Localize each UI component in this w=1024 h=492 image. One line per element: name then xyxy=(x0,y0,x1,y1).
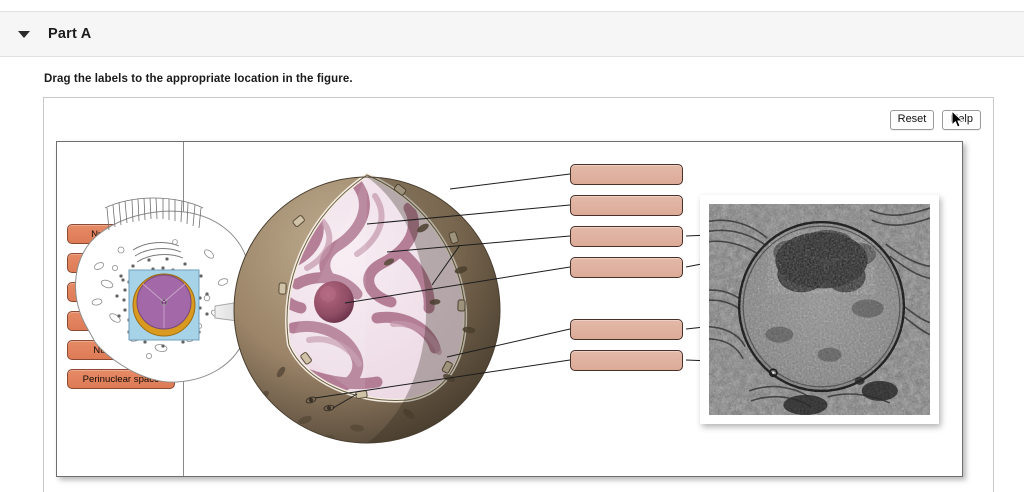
drop-target-5[interactable] xyxy=(570,319,683,340)
part-header: Part A xyxy=(0,11,1024,57)
drop-target-6[interactable] xyxy=(570,350,683,371)
toolbar: Reset Help xyxy=(890,110,981,130)
drop-target-1[interactable] xyxy=(570,164,683,185)
page-title: Part A xyxy=(48,26,91,42)
figure-drop-area[interactable]: Nuclear pores Chromatin Nuclear envelope… xyxy=(56,141,963,477)
triangle-down-icon[interactable] xyxy=(18,31,30,38)
nucleus-cutaway-illustration xyxy=(227,162,517,452)
nucleus-electron-micrograph-frame xyxy=(700,195,939,424)
drop-target-4[interactable] xyxy=(570,257,683,278)
exercise-container: Reset Help Nuclear pores Chromatin Nucle… xyxy=(43,97,994,492)
reset-button[interactable]: Reset xyxy=(890,110,935,130)
drop-target-2[interactable] xyxy=(570,195,683,216)
nucleus-electron-micrograph xyxy=(709,204,930,415)
drop-target-3[interactable] xyxy=(570,226,683,247)
whole-cell-line-drawing xyxy=(76,198,252,382)
help-button[interactable]: Help xyxy=(942,110,981,130)
instruction-text: Drag the labels to the appropriate locat… xyxy=(44,73,353,85)
